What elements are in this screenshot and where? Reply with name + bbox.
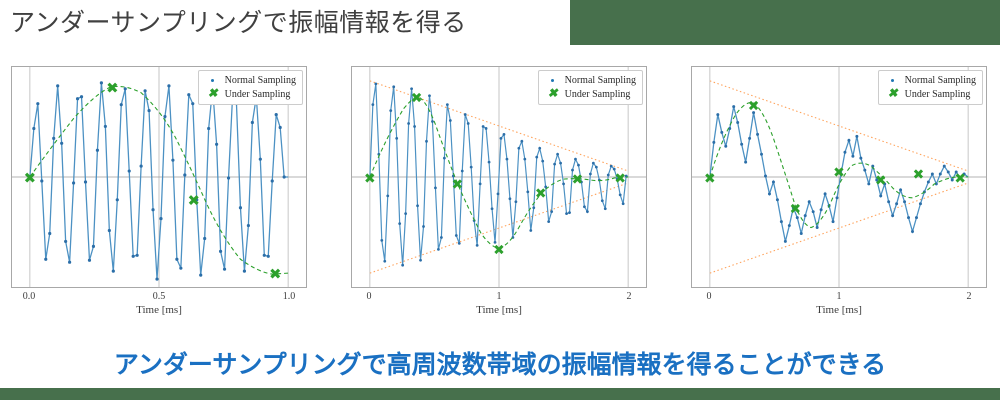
chart-panel-3[interactable]: ✖ ✖ ✖ ✖ ✖ ✖ ✖ Normal Sampling [685, 62, 995, 327]
svg-text:✖: ✖ [411, 91, 423, 107]
x-marker-icon: ✖ [883, 87, 903, 101]
x-ticks-3: 0 1 2 [691, 288, 987, 304]
svg-text:✖: ✖ [572, 172, 584, 188]
x-tick-label: 1.0 [283, 291, 296, 302]
svg-text:✖: ✖ [614, 171, 626, 187]
legend-3: Normal Sampling ✖ Under Sampling [878, 70, 983, 105]
x-tick-label: 2 [627, 291, 632, 302]
svg-text:✖: ✖ [535, 186, 547, 202]
svg-text:✖: ✖ [954, 171, 966, 187]
svg-text:✖: ✖ [269, 265, 281, 283]
legend-label-normal: Normal Sampling [905, 74, 976, 87]
legend-2: Normal Sampling ✖ Under Sampling [538, 70, 643, 105]
svg-text:✖: ✖ [748, 99, 760, 115]
x-tick-label: 1 [497, 291, 502, 302]
x-axis-label-2: Time [ms] [351, 304, 647, 316]
page-title: アンダーサンプリングで振幅情報を得る [10, 6, 467, 40]
svg-text:✖: ✖ [24, 169, 36, 187]
legend-label-under: Under Sampling [565, 88, 631, 101]
svg-text:✖: ✖ [704, 171, 716, 187]
charts-row: ✖ ✖ ✖ ✖ Normal Sampling ✖ Under Sampling [0, 62, 1000, 327]
x-axis-label-1: Time [ms] [11, 304, 307, 316]
legend-label-under: Under Sampling [225, 88, 291, 101]
svg-text:✖: ✖ [451, 177, 463, 193]
svg-text:✖: ✖ [364, 171, 376, 187]
legend-label-under: Under Sampling [905, 88, 971, 101]
svg-text:✖: ✖ [789, 202, 801, 218]
x-ticks-2: 0 1 2 [351, 288, 647, 304]
slide-root: アンダーサンプリングで振幅情報を得る [0, 0, 1000, 400]
legend-1: Normal Sampling ✖ Under Sampling [198, 70, 303, 105]
chart-panel-1[interactable]: ✖ ✖ ✖ ✖ Normal Sampling ✖ Under Sampling [5, 62, 315, 327]
svg-text:✖: ✖ [493, 242, 505, 258]
x-tick-label: 0 [707, 291, 712, 302]
footer-accent-bar [0, 388, 1000, 400]
under-sampling-markers-3: ✖ ✖ ✖ ✖ ✖ ✖ ✖ [704, 99, 966, 218]
plot-frame-1: ✖ ✖ ✖ ✖ Normal Sampling ✖ Under Sampling [11, 66, 307, 288]
x-tick-label: 0 [367, 291, 372, 302]
legend-row-under-1: ✖ Under Sampling [203, 87, 296, 101]
header-accent-block [570, 0, 1000, 45]
x-marker-icon: ✖ [203, 87, 223, 101]
slide-caption: アンダーサンプリングで高周波数帯域の振幅情報を得ることができる [0, 348, 1000, 382]
x-ticks-1: 0.0 0.5 1.0 [11, 288, 307, 304]
legend-label-normal: Normal Sampling [225, 74, 296, 87]
chart-panel-2[interactable]: ✖ ✖ ✖ ✖ ✖ ✖ ✖ Normal Sampling [345, 62, 655, 327]
svg-text:✖: ✖ [106, 79, 118, 97]
plot-frame-2: ✖ ✖ ✖ ✖ ✖ ✖ ✖ Normal Sampling [351, 66, 647, 288]
x-tick-label: 1 [837, 291, 842, 302]
svg-text:✖: ✖ [833, 165, 845, 181]
svg-text:✖: ✖ [875, 173, 887, 189]
svg-text:✖: ✖ [913, 167, 925, 183]
x-tick-label: 0.5 [153, 291, 166, 302]
x-marker-icon: ✖ [543, 87, 563, 101]
legend-row-under-2: ✖ Under Sampling [543, 87, 636, 101]
x-tick-label: 2 [967, 291, 972, 302]
x-tick-label: 0.0 [23, 291, 36, 302]
svg-text:✖: ✖ [188, 192, 200, 210]
legend-label-normal: Normal Sampling [565, 74, 636, 87]
x-axis-label-3: Time [ms] [691, 304, 987, 316]
plot-frame-3: ✖ ✖ ✖ ✖ ✖ ✖ ✖ Normal Sampling [691, 66, 987, 288]
legend-row-under-3: ✖ Under Sampling [883, 87, 976, 101]
